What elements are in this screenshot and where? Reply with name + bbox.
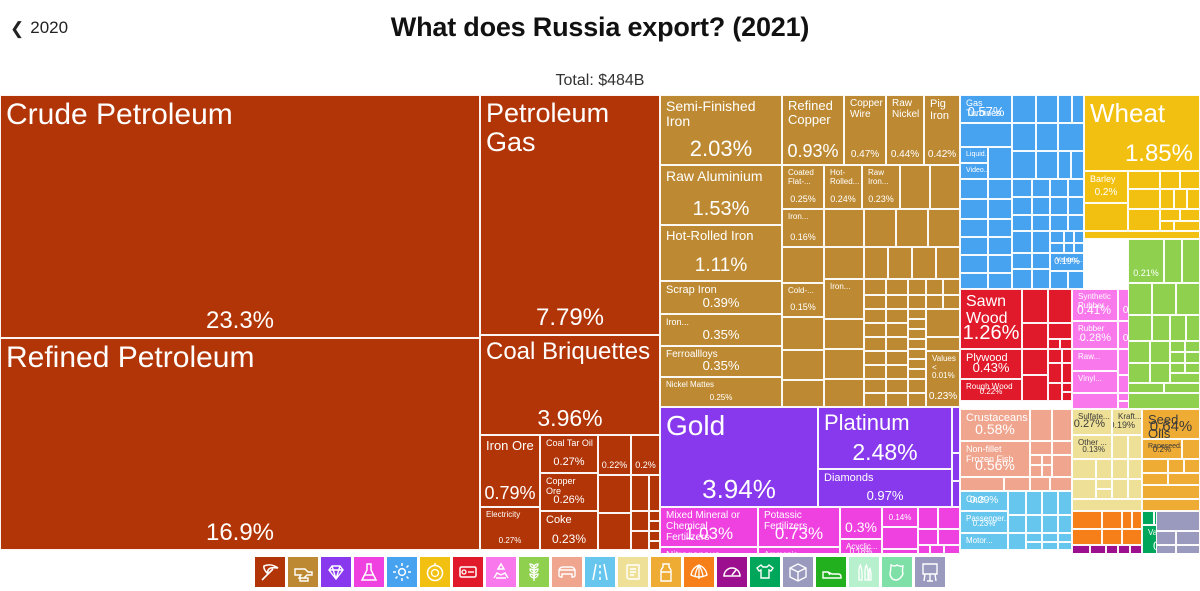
- treemap-cell-raw[interactable]: Raw...: [1072, 349, 1118, 371]
- treemap-cell[interactable]: [1128, 435, 1142, 459]
- treemap-cell[interactable]: [1052, 455, 1072, 477]
- treemap-cell-potassic-fertilizers[interactable]: Potassic Fertilizers0.73%: [758, 507, 840, 547]
- treemap-cell[interactable]: [1160, 209, 1180, 221]
- treemap-cell[interactable]: [1168, 459, 1184, 473]
- treemap-cell[interactable]: [1168, 473, 1200, 485]
- treemap-cell[interactable]: [1048, 339, 1060, 349]
- treemap-cell[interactable]: 0.14%: [882, 507, 918, 527]
- tshirt-icon[interactable]: [750, 557, 780, 587]
- treemap-cell[interactable]: [1184, 459, 1200, 473]
- treemap-cell[interactable]: [908, 319, 926, 329]
- treemap-cell[interactable]: [649, 521, 660, 531]
- treemap-cell[interactable]: [918, 507, 938, 529]
- treemap-cell[interactable]: [1058, 491, 1072, 515]
- treemap-cell[interactable]: [598, 513, 631, 550]
- treemap-cell[interactable]: [1128, 363, 1150, 383]
- treemap-cell[interactable]: [908, 393, 926, 407]
- treemap-cell[interactable]: [1032, 231, 1050, 253]
- treemap-cell-passenger[interactable]: Passenger...0.23%: [960, 511, 1008, 533]
- treemap-cell-raw-aluminium[interactable]: Raw Aluminium1.53%: [660, 165, 782, 225]
- easel-icon[interactable]: [915, 557, 945, 587]
- bottle-icon[interactable]: [651, 557, 681, 587]
- paper-roll-icon[interactable]: [453, 557, 483, 587]
- treemap-cell[interactable]: [1174, 221, 1200, 231]
- treemap-cell[interactable]: [1128, 189, 1160, 209]
- sector-icon-bar[interactable]: [0, 553, 1200, 591]
- treemap-cell[interactable]: [988, 219, 1012, 237]
- treemap-cell[interactable]: [1185, 352, 1200, 363]
- tree-ring-icon[interactable]: [420, 557, 450, 587]
- treemap-cell[interactable]: [1072, 499, 1142, 511]
- treemap-cell[interactable]: [1062, 349, 1072, 363]
- treemap-cell-iron-ore[interactable]: Iron Ore0.79%: [480, 435, 540, 507]
- treemap-cell[interactable]: [1048, 349, 1062, 363]
- treemap-cell[interactable]: [1008, 515, 1026, 533]
- treemap-cell[interactable]: [938, 529, 960, 545]
- treemap-cell[interactable]: [1128, 341, 1150, 363]
- treemap-cell-sulfate[interactable]: Sulfate...0.27%: [1072, 409, 1112, 435]
- treemap-cell[interactable]: [1176, 283, 1200, 315]
- treemap-cell[interactable]: [1050, 197, 1068, 215]
- treemap-cell[interactable]: [1182, 239, 1200, 283]
- treemap-cell-pig-iron[interactable]: Pig Iron0.42%: [924, 95, 960, 165]
- treemap-cell[interactable]: [1128, 393, 1200, 409]
- treemap-cell-coal-briquettes[interactable]: Coal Briquettes3.96%: [480, 335, 660, 435]
- treemap-cell[interactable]: [1084, 203, 1128, 231]
- treemap-cell[interactable]: [908, 339, 926, 349]
- treemap-cell-hot-rolled-iron[interactable]: Hot-Rolled Iron1.11%: [660, 225, 782, 281]
- treemap-cell[interactable]: [1072, 393, 1118, 409]
- treemap-cell[interactable]: [1128, 383, 1164, 393]
- treemap-cell[interactable]: [943, 295, 960, 309]
- treemap-cell[interactable]: [1050, 477, 1072, 491]
- treemap-cell[interactable]: [1084, 231, 1200, 239]
- box-icon[interactable]: [783, 557, 813, 587]
- treemap-cell[interactable]: [1072, 479, 1096, 499]
- treemap-cell[interactable]: [886, 323, 908, 337]
- treemap-cell[interactable]: [1185, 341, 1200, 352]
- treemap-cell[interactable]: [1156, 511, 1200, 531]
- treemap-cell[interactable]: [1062, 392, 1072, 401]
- treemap-cell[interactable]: [1030, 455, 1042, 465]
- treemap-cell[interactable]: [908, 329, 926, 339]
- treemap-cell-crustaceans[interactable]: Crustaceans0.58%: [960, 409, 1030, 441]
- treemap-cell[interactable]: [1030, 465, 1042, 477]
- treemap-cell[interactable]: [1062, 363, 1072, 383]
- treemap-cell[interactable]: [1071, 151, 1084, 179]
- treemap-cell[interactable]: [824, 379, 864, 407]
- treemap-cell[interactable]: [1058, 95, 1072, 123]
- treemap-cell[interactable]: [1176, 531, 1200, 545]
- treemap-cell-rubber[interactable]: Rubber ...0.28%: [1072, 321, 1118, 349]
- treemap-cell[interactable]: [1036, 95, 1058, 123]
- treemap-cell[interactable]: [1032, 215, 1050, 231]
- treemap-cell[interactable]: [886, 393, 908, 407]
- treemap-cell[interactable]: [864, 379, 886, 393]
- treemap-cell-ferroallloys[interactable]: Ferroallloys0.35%: [660, 346, 782, 377]
- treemap-cell[interactable]: [1012, 151, 1036, 179]
- treemap-cell[interactable]: [926, 337, 960, 351]
- treemap-cell[interactable]: [864, 309, 886, 323]
- treemap-cell[interactable]: [960, 179, 988, 199]
- ammunition-icon[interactable]: [849, 557, 879, 587]
- treemap-cell[interactable]: [1012, 231, 1032, 253]
- treemap-cell[interactable]: [864, 323, 886, 337]
- treemap-cell-iron[interactable]: Iron...0.16%: [782, 209, 824, 247]
- treemap-cell[interactable]: [1150, 363, 1170, 383]
- treemap-cell[interactable]: [1052, 409, 1072, 441]
- treemap-cell[interactable]: [649, 475, 660, 511]
- treemap-cell[interactable]: [1050, 243, 1064, 253]
- treemap-cell-barley[interactable]: Barley0.2%: [1084, 171, 1128, 203]
- treemap-cell[interactable]: [1048, 289, 1072, 323]
- hide-icon[interactable]: [882, 557, 912, 587]
- treemap-cell[interactable]: [888, 247, 912, 279]
- treemap-cell-gold[interactable]: Gold3.94%: [660, 407, 818, 507]
- treemap-cell[interactable]: [960, 237, 988, 255]
- treemap-cell[interactable]: [908, 349, 926, 359]
- treemap-cell[interactable]: [1026, 491, 1042, 515]
- flask-icon[interactable]: [354, 557, 384, 587]
- treemap-cell[interactable]: [864, 351, 886, 365]
- treemap-cell[interactable]: [1012, 123, 1036, 151]
- treemap-cell[interactable]: [1170, 373, 1200, 383]
- treemap-cell-petroleum-gas[interactable]: Petroleum Gas7.79%: [480, 95, 660, 335]
- treemap-cell[interactable]: [1142, 511, 1154, 525]
- treemap-cell[interactable]: [908, 359, 926, 369]
- treemap-cell[interactable]: [918, 529, 938, 545]
- treemap-cell[interactable]: [1048, 383, 1062, 401]
- treemap-cell[interactable]: [952, 407, 960, 453]
- treemap-cell[interactable]: [1022, 375, 1048, 401]
- treemap-cell[interactable]: [1074, 243, 1084, 253]
- treemap-cell[interactable]: [864, 247, 888, 279]
- treemap-cell[interactable]: [960, 273, 988, 289]
- pickaxe-icon[interactable]: [255, 557, 285, 587]
- treemap-cell[interactable]: [631, 511, 649, 531]
- treemap-cell[interactable]: [1170, 315, 1186, 341]
- shoe-icon[interactable]: [816, 557, 846, 587]
- treemap-cell[interactable]: [1004, 477, 1030, 491]
- treemap-cell[interactable]: [1156, 531, 1176, 545]
- treemap-cell[interactable]: [1170, 341, 1185, 352]
- treemap-cell[interactable]: [1058, 533, 1072, 542]
- anvil-icon[interactable]: [288, 557, 318, 587]
- treemap-cell[interactable]: [782, 317, 824, 350]
- treemap-cell[interactable]: 0.21%: [1128, 239, 1164, 283]
- treemap-cell[interactable]: [824, 349, 864, 379]
- treemap-cell[interactable]: [1112, 479, 1128, 499]
- treemap-chart[interactable]: Crude Petroleum23.3%Refined Petroleum16.…: [0, 95, 1200, 550]
- treemap-cell[interactable]: [1174, 189, 1187, 209]
- treemap-cell[interactable]: [886, 379, 908, 393]
- treemap-cell[interactable]: [926, 295, 943, 309]
- treemap-cell[interactable]: [864, 209, 896, 247]
- treemap-cell[interactable]: [1048, 363, 1062, 383]
- treemap-cell[interactable]: [864, 337, 886, 351]
- treemap-cell[interactable]: [1030, 409, 1052, 441]
- treemap-cell[interactable]: [1074, 231, 1084, 243]
- treemap-cell[interactable]: [1012, 215, 1032, 231]
- treemap-cell[interactable]: [926, 279, 943, 295]
- cow-icon[interactable]: [552, 557, 582, 587]
- treemap-cell-iron[interactable]: Iron...: [824, 279, 864, 319]
- treemap-cell[interactable]: [1068, 271, 1084, 289]
- treemap-cell[interactable]: [1052, 441, 1072, 455]
- treemap-cell-kraft[interactable]: Kraft...0.19%: [1112, 409, 1142, 435]
- treemap-cell[interactable]: [1132, 511, 1142, 529]
- treemap-cell[interactable]: [1042, 533, 1058, 542]
- treemap-cell-crude-petroleum[interactable]: Crude Petroleum23.3%: [0, 95, 480, 338]
- treemap-cell[interactable]: [1050, 215, 1068, 231]
- treemap-cell[interactable]: [952, 481, 960, 507]
- treemap-cell[interactable]: [1068, 197, 1084, 215]
- treemap-cell[interactable]: [1012, 269, 1032, 289]
- treemap-cell-copper-ore[interactable]: Copper Ore0.26%: [540, 473, 598, 511]
- treemap-cell[interactable]: [1058, 151, 1071, 179]
- treemap-cell[interactable]: [1042, 491, 1058, 515]
- treemap-cell-seed-oils[interactable]: Seed Oils0.64%: [1142, 409, 1200, 439]
- treemap-cell-coal-tar-oil[interactable]: Coal Tar Oil0.27%: [540, 435, 598, 473]
- treemap-cell[interactable]: [1112, 459, 1128, 479]
- treemap-cell[interactable]: [1160, 221, 1174, 231]
- treemap-cell[interactable]: [1026, 533, 1042, 542]
- treemap-cell[interactable]: [1008, 533, 1026, 550]
- treemap-cell[interactable]: [908, 379, 926, 393]
- treemap-cell-coke[interactable]: Coke0.23%: [540, 511, 598, 550]
- treemap-cell-semi-finished-iron[interactable]: Semi-Finished Iron2.03%: [660, 95, 782, 165]
- treemap-cell[interactable]: [960, 123, 1012, 147]
- treemap-cell[interactable]: [1180, 171, 1200, 189]
- treemap-cell[interactable]: [1152, 283, 1176, 315]
- treemap-cell[interactable]: [1042, 542, 1058, 550]
- treemap-cell[interactable]: [926, 309, 960, 337]
- treemap-cell[interactable]: [1128, 479, 1142, 499]
- treemap-cell[interactable]: [1072, 511, 1102, 529]
- treemap-cell[interactable]: [960, 255, 988, 273]
- treemap-cell[interactable]: [960, 219, 988, 237]
- treemap-cell[interactable]: [1150, 341, 1170, 363]
- treemap-cell-synthetic-rubber[interactable]: Synthetic Rubber0.41%: [1072, 289, 1118, 321]
- treemap-cell[interactable]: [1032, 179, 1050, 197]
- treemap-cell-values[interactable]: Values...0.19%: [1050, 253, 1084, 271]
- treemap-cell[interactable]: [936, 247, 960, 279]
- treemap-cell[interactable]: [1128, 459, 1142, 479]
- treemap-cell-hot-rolled[interactable]: Hot-Rolled...0.24%: [824, 165, 862, 209]
- treemap-cell[interactable]: [882, 527, 918, 549]
- treemap-cell[interactable]: [960, 477, 1004, 491]
- treemap-cell[interactable]: [1032, 253, 1050, 269]
- treemap-cell-video[interactable]: Video...: [960, 163, 988, 179]
- treemap-cell-motor[interactable]: Motor...: [960, 533, 1008, 550]
- treemap-cell-diamonds[interactable]: Diamonds0.97%: [818, 469, 952, 507]
- treemap-cell-raw-iron[interactable]: Raw Iron...0.23%: [862, 165, 900, 209]
- treemap-cell[interactable]: [1142, 473, 1168, 485]
- treemap-cell-rough-wood[interactable]: Rough Wood0.22%: [960, 379, 1022, 401]
- treemap-cell[interactable]: [928, 209, 960, 247]
- treemap-cell[interactable]: [631, 531, 649, 550]
- treemap-cell[interactable]: [1032, 269, 1050, 289]
- treemap-cell[interactable]: [886, 309, 908, 323]
- treemap-cell-rapeseed[interactable]: Rapeseed...0.2%: [1142, 439, 1182, 459]
- treemap-cell[interactable]: [1012, 253, 1032, 269]
- treemap-cell-wheat[interactable]: Wheat1.85%: [1084, 95, 1200, 171]
- treemap-cell[interactable]: [824, 319, 864, 349]
- treemap-cell-vinyl[interactable]: Vinyl...: [1072, 371, 1118, 393]
- scroll-icon[interactable]: [618, 557, 648, 587]
- treemap-cell[interactable]: [782, 350, 824, 380]
- treemap-cell[interactable]: [1062, 383, 1072, 392]
- treemap-cell[interactable]: [824, 247, 864, 279]
- treemap-cell[interactable]: [1012, 197, 1032, 215]
- treemap-cell-platinum[interactable]: Platinum2.48%: [818, 407, 952, 469]
- road-icon[interactable]: [585, 557, 615, 587]
- treemap-cell[interactable]: [1050, 179, 1068, 197]
- treemap-cell[interactable]: [1058, 515, 1072, 533]
- treemap-cell-cars[interactable]: Cars0.29%: [960, 491, 1008, 511]
- treemap-cell[interactable]: [864, 295, 886, 309]
- treemap-cell[interactable]: [988, 255, 1012, 273]
- treemap-cell-mixed-mineral-or-chemical-fertilizers[interactable]: Mixed Mineral or Chemical Fertilizers1.0…: [660, 507, 758, 547]
- treemap-cell[interactable]: [1036, 151, 1058, 179]
- treemap-cell[interactable]: [1170, 363, 1185, 373]
- treemap-cell[interactable]: [1096, 479, 1112, 489]
- treemap-cell[interactable]: [1030, 477, 1050, 491]
- treemap-cell-cold[interactable]: Cold-...0.15%: [782, 283, 824, 317]
- treemap-cell[interactable]: [1030, 441, 1052, 455]
- treemap-cell[interactable]: [886, 351, 908, 365]
- treemap-cell[interactable]: [1160, 171, 1180, 189]
- treemap-cell-scrap-iron[interactable]: Scrap Iron0.39%: [660, 281, 782, 314]
- treemap-cell[interactable]: [988, 147, 1012, 179]
- treemap-cell[interactable]: [1008, 491, 1026, 515]
- treemap-cell[interactable]: [1152, 315, 1170, 341]
- treemap-cell[interactable]: [1026, 515, 1042, 533]
- treemap-cell[interactable]: [649, 511, 660, 521]
- treemap-cell[interactable]: [988, 179, 1012, 199]
- treemap-cell[interactable]: [1048, 323, 1072, 339]
- treemap-cell[interactable]: [1096, 459, 1112, 479]
- treemap-cell[interactable]: [782, 380, 824, 407]
- diamond-icon[interactable]: [321, 557, 351, 587]
- treemap-cell[interactable]: [1050, 231, 1064, 243]
- treemap-cell-liquid[interactable]: Liquid...: [960, 147, 988, 163]
- gear-icon[interactable]: [387, 557, 417, 587]
- treemap-cell[interactable]: [1064, 243, 1074, 253]
- treemap-cell-plywood[interactable]: Plywood0.43%: [960, 349, 1022, 379]
- treemap-cell-raw-nickel[interactable]: Raw Nickel0.44%: [886, 95, 924, 165]
- treemap-cell[interactable]: [1042, 455, 1052, 465]
- treemap-cell[interactable]: 0.22%: [598, 435, 631, 475]
- treemap-cell[interactable]: [1182, 439, 1200, 459]
- treemap-cell[interactable]: [1180, 209, 1200, 221]
- treemap-cell-refined-copper[interactable]: Refined Copper0.93%: [782, 95, 844, 165]
- treemap-cell[interactable]: [886, 337, 908, 351]
- treemap-cell[interactable]: [1128, 283, 1152, 315]
- shell-icon[interactable]: [684, 557, 714, 587]
- treemap-cell-electricity[interactable]: Electricity0.27%: [480, 507, 540, 550]
- treemap-cell[interactable]: [1122, 529, 1142, 545]
- treemap-cell[interactable]: [1060, 339, 1072, 349]
- treemap-cell[interactable]: [943, 279, 960, 295]
- treemap-cell[interactable]: [1186, 315, 1200, 341]
- treemap-cell[interactable]: [1058, 542, 1072, 550]
- treemap-cell[interactable]: [896, 209, 928, 247]
- treemap-cell[interactable]: [1128, 209, 1160, 231]
- treemap-cell[interactable]: [1142, 459, 1168, 473]
- treemap-cell[interactable]: [1096, 489, 1112, 499]
- treemap-cell[interactable]: 0.2%: [631, 435, 660, 475]
- treemap-cell[interactable]: [1042, 515, 1058, 533]
- treemap-cell[interactable]: [1058, 123, 1084, 151]
- treemap-cell[interactable]: [908, 369, 926, 379]
- treemap-cell[interactable]: [1142, 499, 1200, 511]
- treemap-cell[interactable]: [864, 365, 886, 379]
- treemap-cell[interactable]: [938, 507, 960, 529]
- treemap-cell[interactable]: [1068, 179, 1084, 197]
- treemap-cell-nickel-mattes[interactable]: Nickel Mattes0.25%: [660, 377, 782, 407]
- treemap-cell[interactable]: [1036, 123, 1058, 151]
- treemap-cell-refined-petroleum[interactable]: Refined Petroleum16.9%: [0, 338, 480, 550]
- treemap-cell[interactable]: [886, 365, 908, 379]
- treemap-cell[interactable]: [1102, 529, 1122, 545]
- treemap-cell[interactable]: [908, 279, 926, 295]
- treemap-cell[interactable]: [952, 453, 960, 481]
- treemap-cell[interactable]: [912, 247, 936, 279]
- gauge-icon[interactable]: [717, 557, 747, 587]
- treemap-cell[interactable]: [864, 279, 886, 295]
- treemap-cell[interactable]: [1142, 485, 1200, 499]
- treemap-cell[interactable]: [988, 199, 1012, 219]
- treemap-cell[interactable]: [1032, 197, 1050, 215]
- treemap-cell[interactable]: [1068, 215, 1084, 231]
- treemap-cell-coated-flat[interactable]: Coated Flat-...0.25%: [782, 165, 824, 209]
- treemap-cell-values-0-01[interactable]: Values < 0.01%0.23%: [926, 351, 960, 407]
- treemap-cell-other[interactable]: Other ...0.13%: [1072, 435, 1112, 459]
- treemap-cell[interactable]: [1012, 95, 1036, 123]
- treemap-cell[interactable]: 0.3%: [840, 507, 882, 539]
- treemap-cell[interactable]: [1128, 171, 1160, 189]
- treemap-cell[interactable]: [864, 393, 886, 407]
- treemap-cell[interactable]: [1042, 465, 1052, 477]
- treemap-cell[interactable]: [908, 309, 926, 319]
- treemap-cell[interactable]: [1187, 189, 1200, 209]
- treemap-cell[interactable]: [1022, 289, 1048, 323]
- treemap-cell[interactable]: [1072, 459, 1096, 479]
- treemap-cell[interactable]: [824, 209, 864, 247]
- treemap-cell[interactable]: [1102, 511, 1122, 529]
- treemap-cell[interactable]: [649, 541, 660, 550]
- treemap-cell[interactable]: [960, 199, 988, 219]
- treemap-cell-gas-turbines[interactable]: Gas Turbines0.57%: [960, 95, 1012, 123]
- treemap-cell[interactable]: [1022, 323, 1048, 349]
- treemap-cell[interactable]: [908, 295, 926, 309]
- treemap-cell-iron[interactable]: Iron...0.35%: [660, 314, 782, 346]
- treemap-cell[interactable]: [1012, 179, 1032, 197]
- treemap-cell[interactable]: [988, 237, 1012, 255]
- treemap-cell[interactable]: [900, 165, 930, 209]
- treemap-cell[interactable]: [1064, 231, 1074, 243]
- treemap-cell[interactable]: [886, 295, 908, 309]
- treemap-cell[interactable]: [886, 279, 908, 295]
- treemap-cell-copper-wire[interactable]: Copper Wire0.47%: [844, 95, 886, 165]
- treemap-cell[interactable]: [1112, 435, 1128, 459]
- treemap-cell[interactable]: [930, 165, 960, 209]
- treemap-cell[interactable]: [988, 273, 1012, 289]
- treemap-cell[interactable]: [631, 475, 649, 511]
- treemap-cell[interactable]: [1170, 352, 1185, 363]
- treemap-cell[interactable]: [1072, 529, 1102, 545]
